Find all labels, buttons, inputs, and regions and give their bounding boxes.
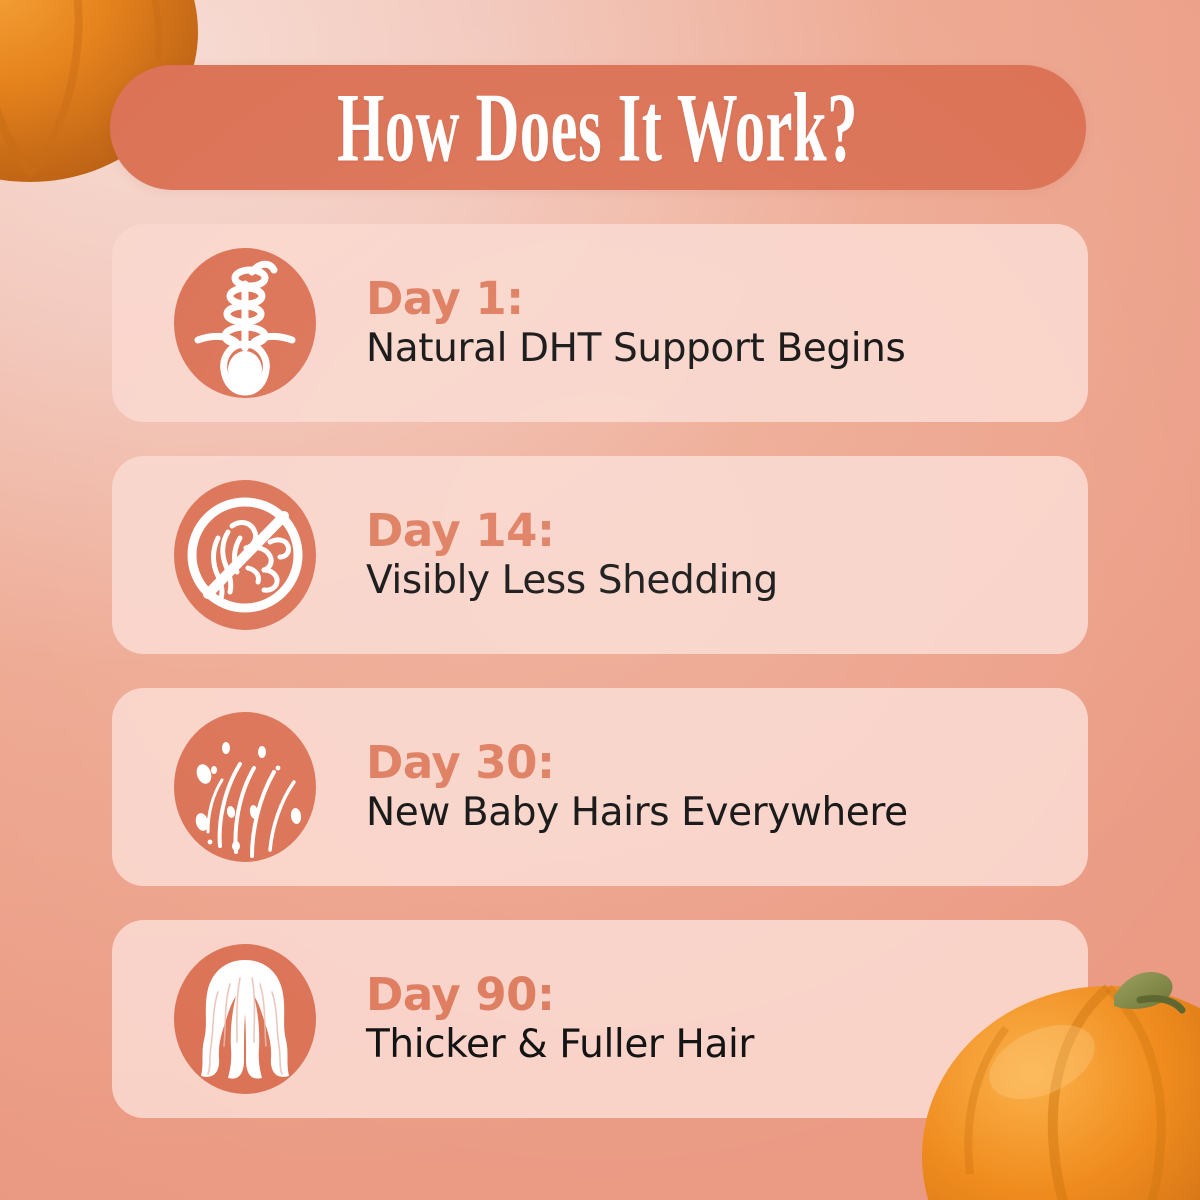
promo-graphic: How Does It Work? xyxy=(0,0,1200,1200)
timeline-step-3[interactable]: Day 30: New Baby Hairs Everywhere xyxy=(112,688,1088,886)
timeline-step-1-text: Day 1: Natural DHT Support Begins xyxy=(366,275,905,371)
timeline-step-2-description: Visibly Less Shedding xyxy=(366,559,778,603)
timeline-step-3-description: New Baby Hairs Everywhere xyxy=(366,791,908,835)
page-title: How Does It Work? xyxy=(338,78,859,177)
timeline-step-4-text: Day 90: Thicker & Fuller Hair xyxy=(366,971,754,1067)
timeline-step-2-text: Day 14: Visibly Less Shedding xyxy=(366,507,778,603)
timeline-step-1-description: Natural DHT Support Begins xyxy=(366,327,905,371)
long-flowing-hair-icon xyxy=(174,944,316,1094)
timeline-step-2-day: Day 14: xyxy=(366,507,778,556)
timeline-step-4[interactable]: Day 90: Thicker & Fuller Hair xyxy=(112,920,1088,1118)
timeline-list: Day 1: Natural DHT Support Begins xyxy=(112,224,1088,1118)
no-hair-shedding-icon xyxy=(174,480,316,630)
timeline-step-1[interactable]: Day 1: Natural DHT Support Begins xyxy=(112,224,1088,422)
timeline-step-3-day: Day 30: xyxy=(366,739,908,788)
timeline-step-2[interactable]: Day 14: Visibly Less Shedding xyxy=(112,456,1088,654)
timeline-step-4-day: Day 90: xyxy=(366,971,754,1020)
hair-follicle-icon xyxy=(174,248,316,398)
timeline-step-4-description: Thicker & Fuller Hair xyxy=(366,1023,754,1067)
page-title-banner: How Does It Work? xyxy=(110,65,1086,190)
timeline-step-1-day: Day 1: xyxy=(366,275,905,324)
timeline-step-3-text: Day 30: New Baby Hairs Everywhere xyxy=(366,739,908,835)
new-baby-hairs-icon xyxy=(174,712,316,862)
